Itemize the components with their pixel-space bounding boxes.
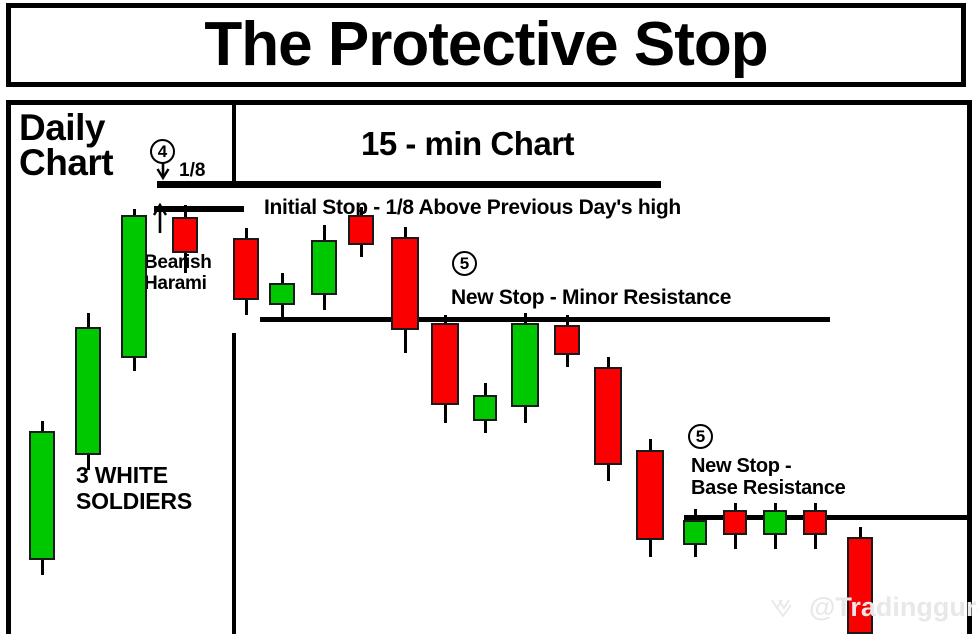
new-stop-base-line2: Base Resistance <box>691 477 846 499</box>
candlestick-15-min-chart-1 <box>233 228 259 315</box>
screenshot-root: The Protective Stop 4 5 5 <box>0 0 978 632</box>
candle-body-up <box>311 240 337 295</box>
candle-body-down <box>431 323 459 405</box>
step-marker-5-base: 5 <box>688 424 713 449</box>
candlestick-15-min-chart-12 <box>683 509 707 557</box>
initial-stop-annotation: Initial Stop - 1/8 Above Previous Day's … <box>264 197 681 218</box>
new-stop-base-line1: New Stop - <box>691 455 846 477</box>
candlestick-15-min-chart-3 <box>311 225 337 310</box>
candlestick-daily-chart-3 <box>121 209 147 371</box>
candlestick-15-min-chart-5 <box>391 227 419 353</box>
candle-body-up <box>75 327 101 455</box>
three-white-soldiers-annotation: 3 WHITE SOLDIERS <box>76 463 192 515</box>
candlestick-daily-chart-2 <box>75 313 101 470</box>
candle-body-down <box>723 510 747 535</box>
candlestick-15-min-chart-15 <box>803 503 827 549</box>
panel-divider-bottom <box>232 333 236 634</box>
candlestick-15-min-chart-7 <box>473 383 497 433</box>
candlestick-daily-chart-1 <box>29 421 55 575</box>
candle-body-down <box>554 325 580 355</box>
panel-divider-top <box>232 105 236 183</box>
page-title: The Protective Stop <box>204 14 767 76</box>
new-stop-base-annotation: New Stop - Base Resistance <box>691 455 846 500</box>
candle-body-up <box>683 520 707 545</box>
candlestick-15-min-chart-10 <box>594 357 622 481</box>
candle-body-up <box>29 431 55 560</box>
candle-body-up <box>121 215 147 358</box>
candle-body-down <box>233 238 259 300</box>
candle-body-down <box>847 537 873 634</box>
daily-chart-label-line2: Chart <box>19 145 113 180</box>
candle-body-down <box>348 215 374 245</box>
minor-resistance-stop-line <box>260 317 830 322</box>
candlestick-daily-chart-4 <box>172 205 198 273</box>
candle-body-down <box>636 450 664 540</box>
candlestick-15-min-chart-6 <box>431 315 459 423</box>
candlestick-15-min-chart-4 <box>348 207 374 257</box>
three-white-soldiers-line2: SOLDIERS <box>76 489 192 515</box>
candlestick-15-min-chart-14 <box>763 503 787 549</box>
intraday-chart-label: 15 - min Chart <box>361 127 574 161</box>
candlestick-15-min-chart-13 <box>723 503 747 549</box>
chart-panel: 4 5 5 Daily Chart 15 - min Chart 1/8 Ini… <box>6 100 972 634</box>
candle-body-down <box>391 237 419 330</box>
bearish-harami-line2: Harami <box>144 273 212 294</box>
step-marker-5-minor: 5 <box>452 251 477 276</box>
candlestick-15-min-chart-11 <box>636 439 664 557</box>
candlestick-15-min-chart-2 <box>269 273 295 317</box>
new-stop-minor-annotation: New Stop - Minor Resistance <box>451 287 731 308</box>
candlestick-15-min-chart-9 <box>554 315 580 367</box>
chart-plot-area: 4 5 5 Daily Chart 15 - min Chart 1/8 Ini… <box>11 105 967 634</box>
daily-chart-label-line1: Daily <box>19 110 113 145</box>
candlestick-15-min-chart-8 <box>511 313 539 423</box>
candle-body-up <box>269 283 295 305</box>
offset-fraction-label: 1/8 <box>179 161 205 180</box>
daily-chart-label: Daily Chart <box>19 110 113 180</box>
step-marker-4: 4 <box>150 139 175 164</box>
candle-body-down <box>803 510 827 535</box>
candle-body-up <box>473 395 497 421</box>
title-banner: The Protective Stop <box>6 3 966 87</box>
candle-body-up <box>511 323 539 407</box>
candle-body-down <box>172 217 198 253</box>
candlestick-15-min-chart-16 <box>847 527 873 634</box>
initial-stop-line <box>157 181 661 188</box>
candle-body-up <box>763 510 787 535</box>
candle-body-down <box>594 367 622 465</box>
